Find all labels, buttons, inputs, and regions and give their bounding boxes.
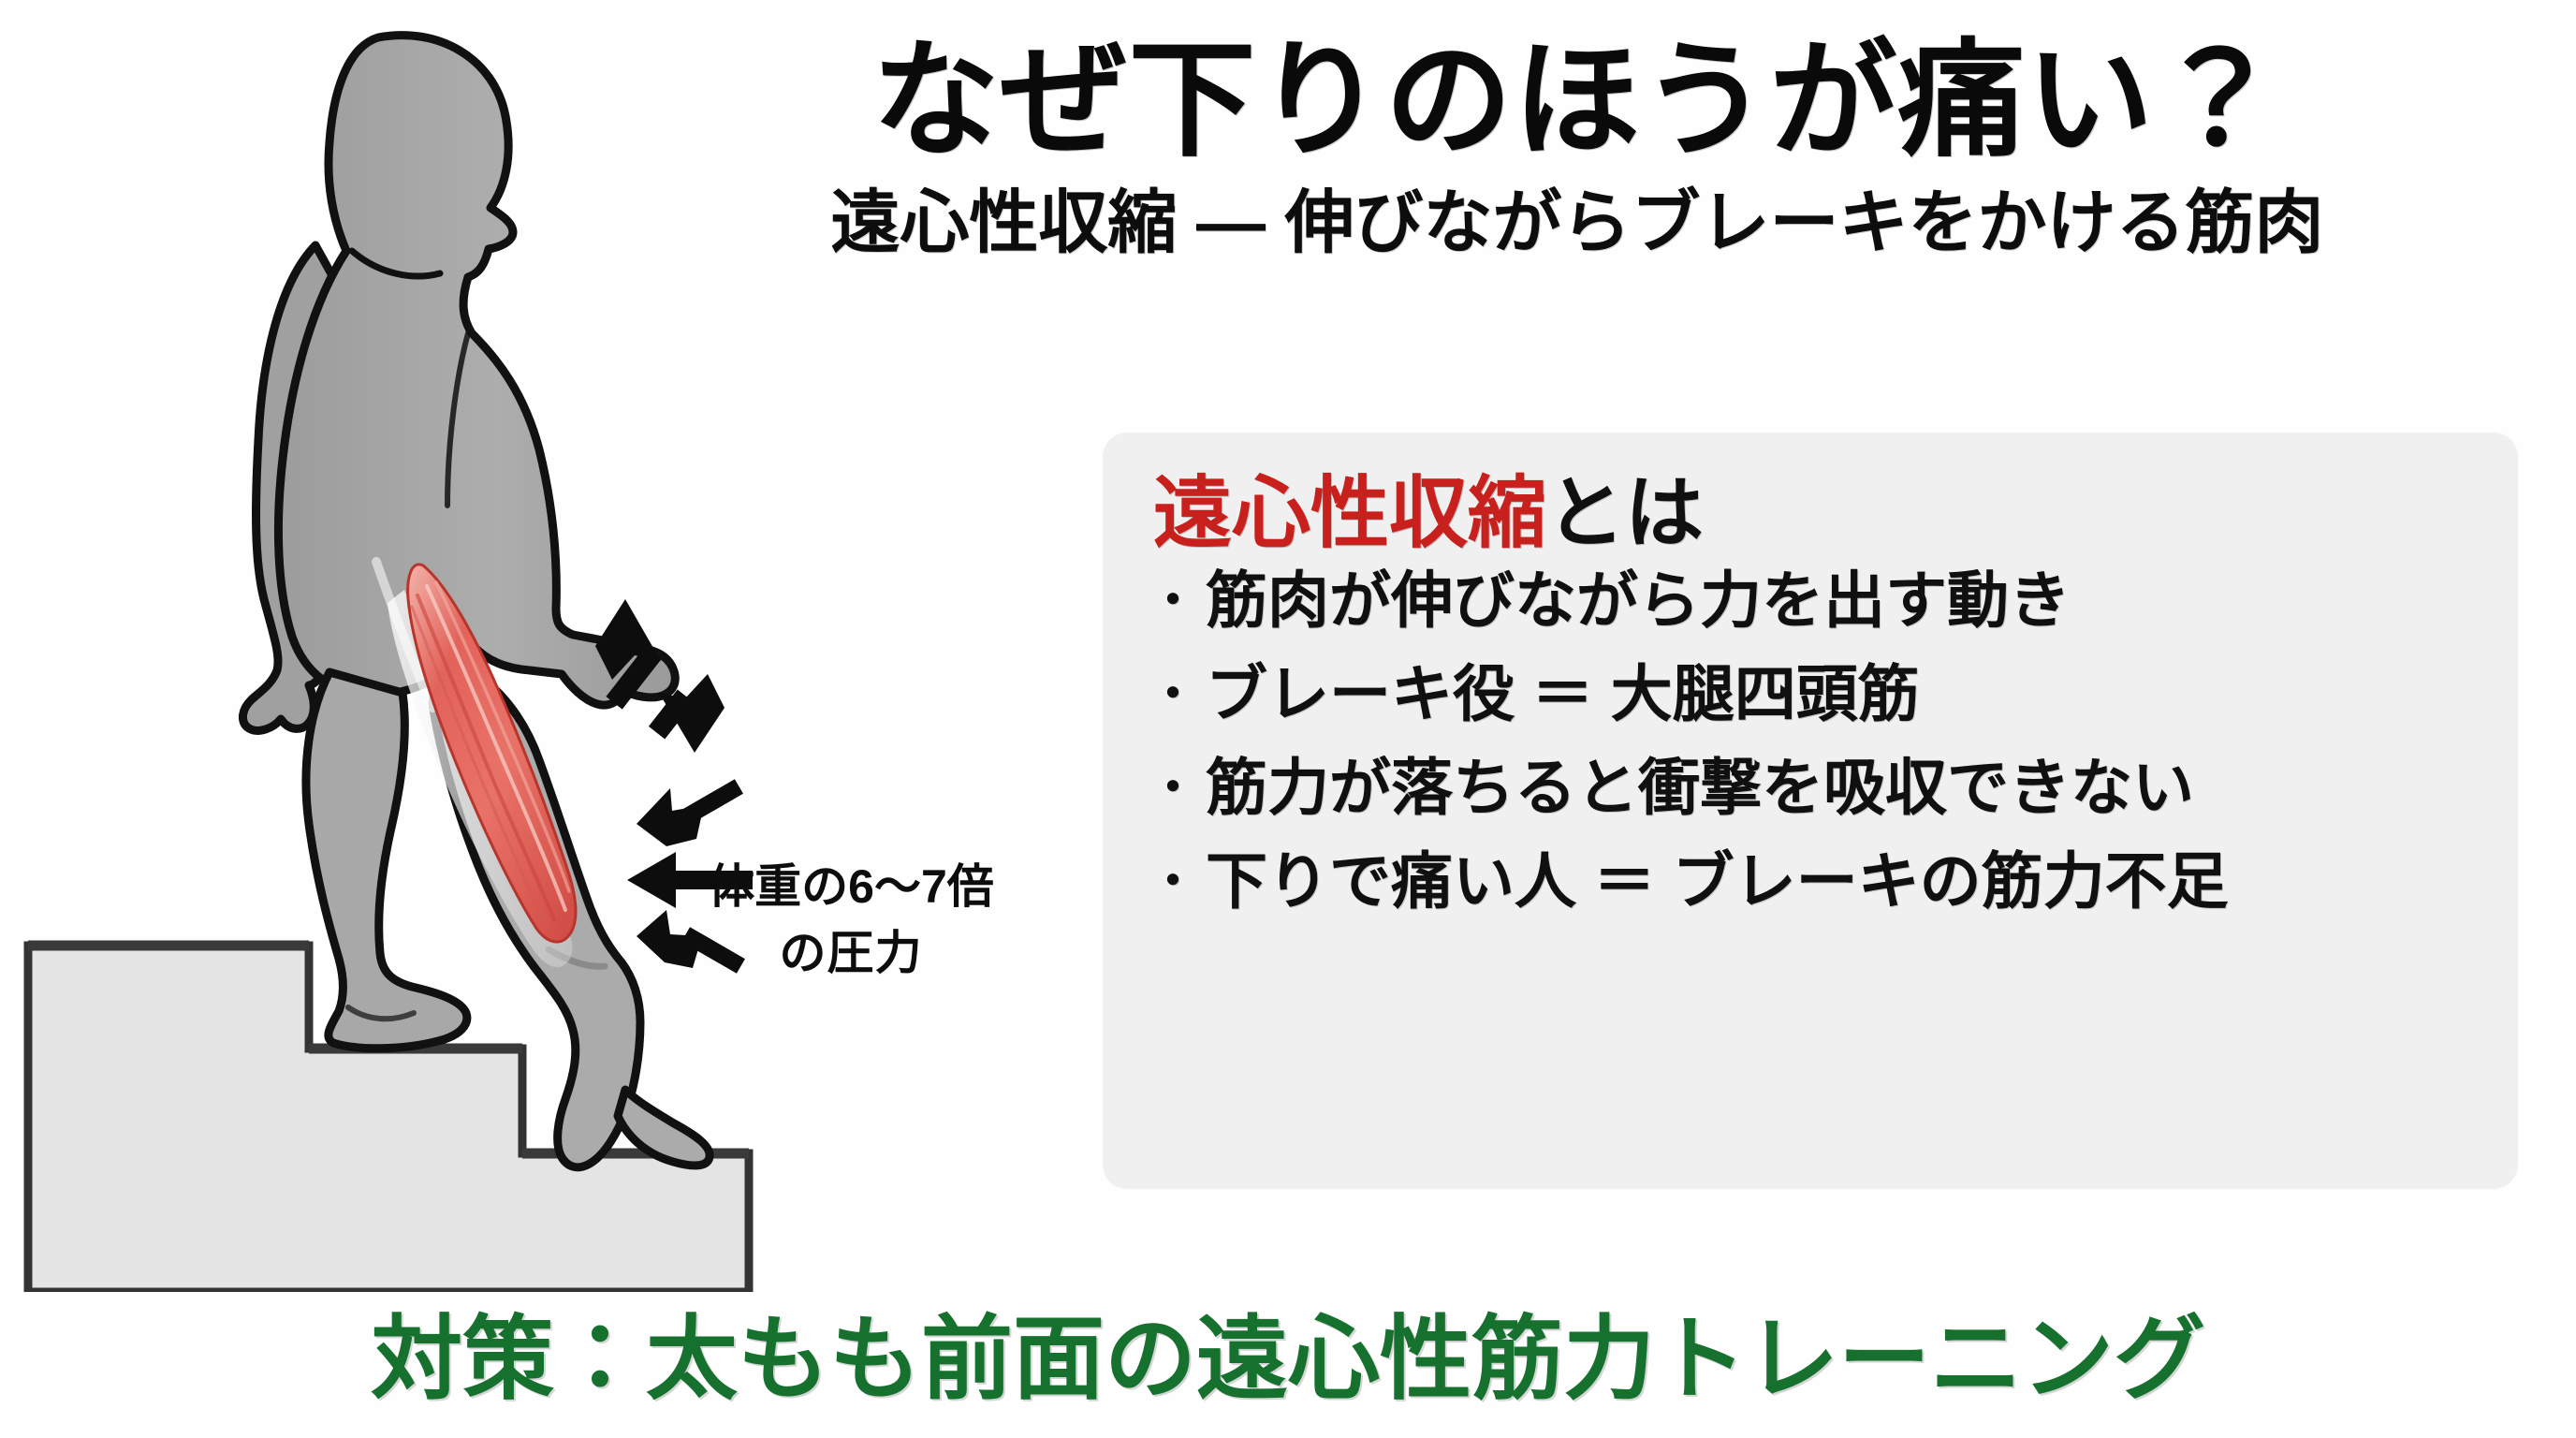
bullet-text: ブレーキ役 ＝ 大腿四頭筋 (1206, 663, 1920, 725)
eccentric-contraction-info-card: 遠心性収縮とは ・ 筋肉が伸びながら力を出す動き ・ ブレーキ役 ＝ 大腿四頭筋… (1103, 433, 2518, 1189)
bullet-mark-icon: ・ (1149, 577, 1196, 624)
info-card-heading-plain: とは (1546, 469, 1704, 557)
info-card-heading: 遠心性収縮とは (1153, 472, 2477, 554)
list-item: ・ 筋力が落ちると衝撃を吸収できない (1149, 756, 2477, 818)
bullet-text: 筋力が落ちると衝撃を吸収できない (1206, 756, 2194, 818)
bullet-mark-icon: ・ (1149, 858, 1196, 904)
info-card-heading-accent: 遠心性収縮 (1153, 469, 1546, 557)
list-item: ・ ブレーキ役 ＝ 大腿四頭筋 (1149, 663, 2477, 725)
countermeasure-banner: 対策：太もも前面の遠心性筋力トレーニング (0, 1284, 2576, 1417)
knee-pressure-annotation: 体重の6〜7倍 の圧力 (696, 854, 1005, 987)
bullet-mark-icon: ・ (1149, 670, 1196, 717)
bullet-text: 筋肉が伸びながら力を出す動き (1206, 569, 2071, 631)
page-subtitle: 遠心性収縮 — 伸びながらブレーキをかける筋肉 (599, 186, 2555, 259)
pressure-annotation-line-1: 体重の6〜7倍 (696, 854, 1005, 920)
bullet-text: 下りで痛い人 ＝ ブレーキの筋力不足 (1206, 850, 2229, 912)
bullet-mark-icon: ・ (1149, 764, 1196, 811)
info-card-bullet-list: ・ 筋肉が伸びながら力を出す動き ・ ブレーキ役 ＝ 大腿四頭筋 ・ 筋力が落ち… (1144, 569, 2477, 912)
page-title: なぜ下りのほうが痛い？ (599, 36, 2555, 166)
headline-block: なぜ下りのほうが痛い？ 遠心性収縮 — 伸びながらブレーキをかける筋肉 (599, 36, 2555, 258)
list-item: ・ 下りで痛い人 ＝ ブレーキの筋力不足 (1149, 850, 2477, 912)
list-item: ・ 筋肉が伸びながら力を出す動き (1149, 569, 2477, 631)
pressure-annotation-line-2: の圧力 (696, 920, 1005, 987)
